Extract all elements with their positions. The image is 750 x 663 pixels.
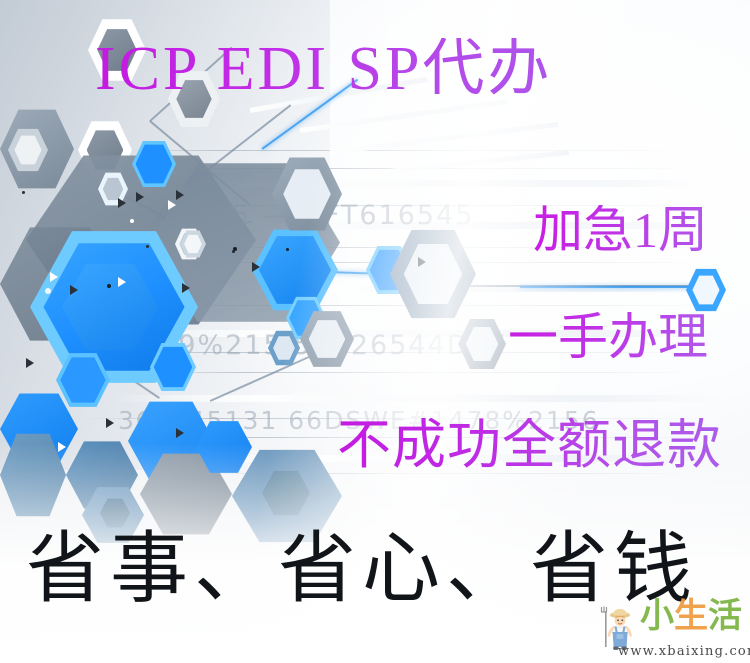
- slogan-text: 省事、省心、省钱: [26, 530, 698, 608]
- watermark-char-2: 生: [674, 596, 708, 636]
- watermark-char-1: 小: [640, 596, 674, 636]
- watermark: 小生活 www.xbaixing.com: [596, 599, 746, 661]
- pitch-line-1: 加急1周: [533, 205, 708, 255]
- pitch-line-2: 一手办理: [508, 312, 708, 362]
- watermark-brand: 小生活: [640, 599, 742, 633]
- promo-poster: 45265 — DFT616545 789%215 54526544DFT 3Q…: [0, 0, 750, 663]
- pitch-line-3: 不成功全额退款: [337, 418, 722, 472]
- watermark-char-3: 活: [708, 596, 742, 636]
- watermark-url: www.xbaixing.com: [618, 644, 750, 659]
- headline-title: ICP EDI SP代办: [95, 38, 552, 100]
